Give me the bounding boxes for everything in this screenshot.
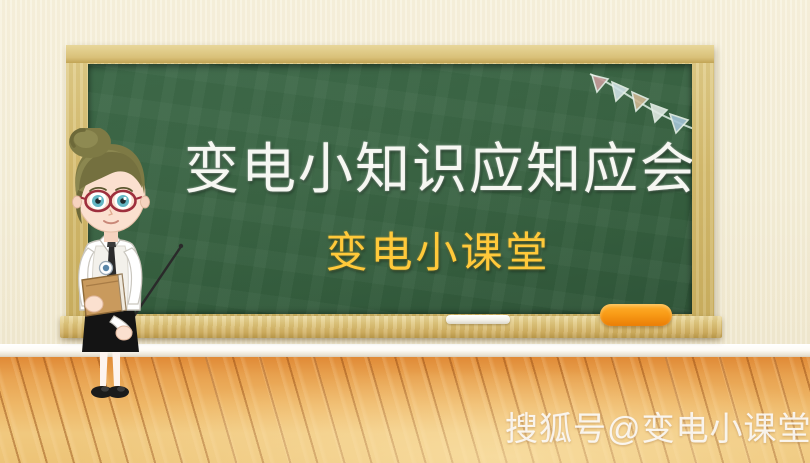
board-eraser-icon <box>600 304 672 326</box>
slide-canvas: 变电小知识应知应会 变电小课堂 <box>0 0 810 463</box>
cartoon-teacher-figure <box>52 128 187 418</box>
chalk-stick-icon <box>446 315 510 324</box>
board-title: 变电小知识应知应会 <box>184 142 692 197</box>
bunting-flags-icon <box>588 68 692 138</box>
board-subtitle: 变电小课堂 <box>184 232 692 274</box>
teacher-head <box>69 128 150 232</box>
teacher-left-hand <box>85 296 103 312</box>
blackboard-frame-top-rail <box>66 45 714 63</box>
teacher-legs <box>91 346 129 398</box>
watermark-text: 搜狐号@变电小课堂 <box>505 412 810 445</box>
